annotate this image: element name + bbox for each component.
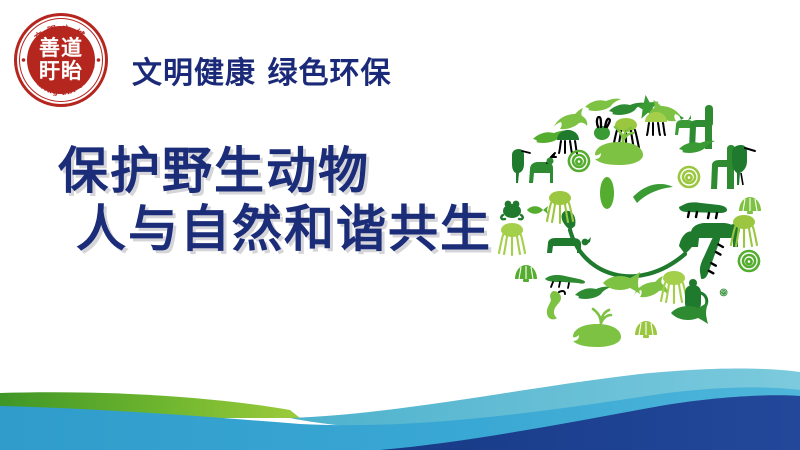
seal-center-line-2: 盱眙 (39, 61, 83, 82)
headline-line-1: 保护野生动物 (58, 142, 492, 200)
seal-center-text: 善道 盱眙 (27, 26, 95, 94)
left-eye-oval (600, 177, 614, 209)
smile-arc (570, 230, 685, 276)
animal-frog-left (501, 201, 522, 220)
animal-bird-bottom-left (575, 287, 611, 299)
animal-giraffe-right (711, 145, 735, 189)
seal-center-line-1: 善道 (39, 38, 83, 59)
seal-dot-right (97, 58, 101, 62)
animal-lizard-left (545, 275, 585, 288)
smiley-face-group (562, 177, 697, 276)
animal-snail-lower-right (739, 251, 759, 271)
animal-jellyfish-top-left (557, 130, 579, 153)
animal-heron-left (512, 149, 530, 183)
animal-rabbit-top (594, 117, 610, 140)
animal-group-bottom (573, 271, 708, 347)
animal-squid-lower-left (499, 223, 525, 255)
animal-shell-left (515, 265, 537, 282)
animal-deer-left (529, 153, 556, 183)
animal-snail-tiny (720, 289, 727, 296)
animal-group-left (499, 149, 611, 319)
wildlife-smiley-circle-artwork (487, 83, 775, 371)
animal-bird-top-mid (609, 103, 645, 115)
main-headline: 保护野生动物 人与自然和谐共生 (58, 142, 492, 258)
animal-fish-left (527, 206, 548, 214)
animal-tiger-left (547, 237, 591, 253)
animal-seahorse-left (547, 291, 565, 319)
header-slogan: 文明健康 绿色环保 (132, 48, 391, 92)
animal-snail-right (679, 167, 699, 187)
poster-canvas: 文明之城 wén míng zhī chéng 善道 盱眙 文明健康 绿色环保 … (0, 0, 800, 450)
animal-group-right (679, 145, 761, 296)
organization-seal-logo: 文明之城 wén míng zhī chéng 善道 盱眙 (14, 13, 108, 107)
animal-squid-bottom (661, 271, 687, 303)
bottom-wave-decoration (0, 340, 800, 450)
animal-shell-right (739, 197, 761, 214)
right-eye-wink (633, 184, 673, 203)
headline-line-2: 人与自然和谐共生 (76, 200, 492, 258)
animal-crocodile-lower-right (697, 232, 727, 282)
animal-shell-bottom (635, 321, 657, 338)
animal-snail-left (569, 151, 589, 171)
seal-dot-left (22, 58, 26, 62)
animal-dolphin-top-left (554, 108, 587, 129)
animal-stork-right (732, 145, 755, 185)
animal-crocodile-right (679, 202, 727, 218)
animal-jellyfish-top (645, 112, 667, 135)
